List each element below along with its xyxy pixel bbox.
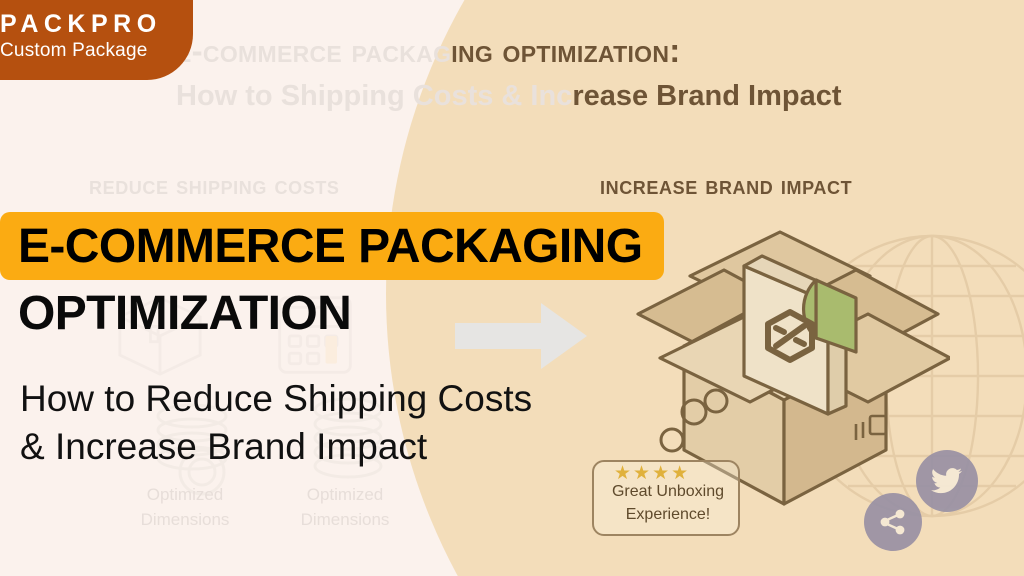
- ghost-headline-line2-light: How to Shipping Costs & Inc: [176, 80, 572, 112]
- ghost-label-text: Optimized Dimensions: [141, 485, 230, 529]
- logo-brand-name: PACKPRO: [0, 10, 193, 38]
- logo-badge[interactable]: PACKPRO Custom Package: [0, 0, 193, 80]
- ghost-headline: E-COMMERCE PACKAGING OPTIMIZATION: How t…: [176, 32, 976, 113]
- slide-canvas: E-COMMERCE PACKAGING OPTIMIZATION: How t…: [0, 0, 1024, 576]
- twitter-bird-icon[interactable]: [916, 450, 978, 512]
- twitter-glyph: [930, 464, 964, 498]
- title-highlight-bar: E-COMMERCE PACKAGING: [0, 212, 664, 280]
- section-label-increase-brand-impact: INCREASE BRAND IMPACT: [600, 172, 852, 201]
- share-glyph: [878, 507, 908, 537]
- section-label-reduce-shipping-costs: REDUCE SHIPPING COSTS: [89, 172, 340, 201]
- subtitle: How to Reduce Shipping Costs & Increase …: [20, 375, 532, 471]
- logo-tagline: Custom Package: [0, 38, 193, 64]
- review-text-line-2: Experience!: [596, 503, 740, 526]
- ghost-label-text: Optimized Dimensions: [301, 485, 390, 529]
- review-text-line-1: Great Unboxing: [596, 480, 740, 503]
- title-highlight-text: E-COMMERCE PACKAGING: [18, 219, 642, 274]
- subtitle-line-2: & Increase Brand Impact: [20, 423, 532, 471]
- ghost-label-optimized-dimensions-1: Optimized Dimensions: [110, 482, 260, 532]
- share-icon[interactable]: [864, 493, 922, 551]
- ghost-headline-line1-dark: ING OPTIMIZATION:: [451, 32, 680, 69]
- ghost-headline-line2-dark: rease Brand Impact: [572, 80, 841, 112]
- subtitle-line-1: How to Reduce Shipping Costs: [20, 375, 532, 423]
- ghost-label-optimized-dimensions-2: Optimized Dimensions: [270, 482, 420, 532]
- title-second-line: OPTIMIZATION: [18, 286, 351, 341]
- ghost-headline-line1-light: E-COMMERCE PACKAG: [176, 32, 451, 69]
- review-card-text: Great Unboxing Experience!: [596, 480, 740, 526]
